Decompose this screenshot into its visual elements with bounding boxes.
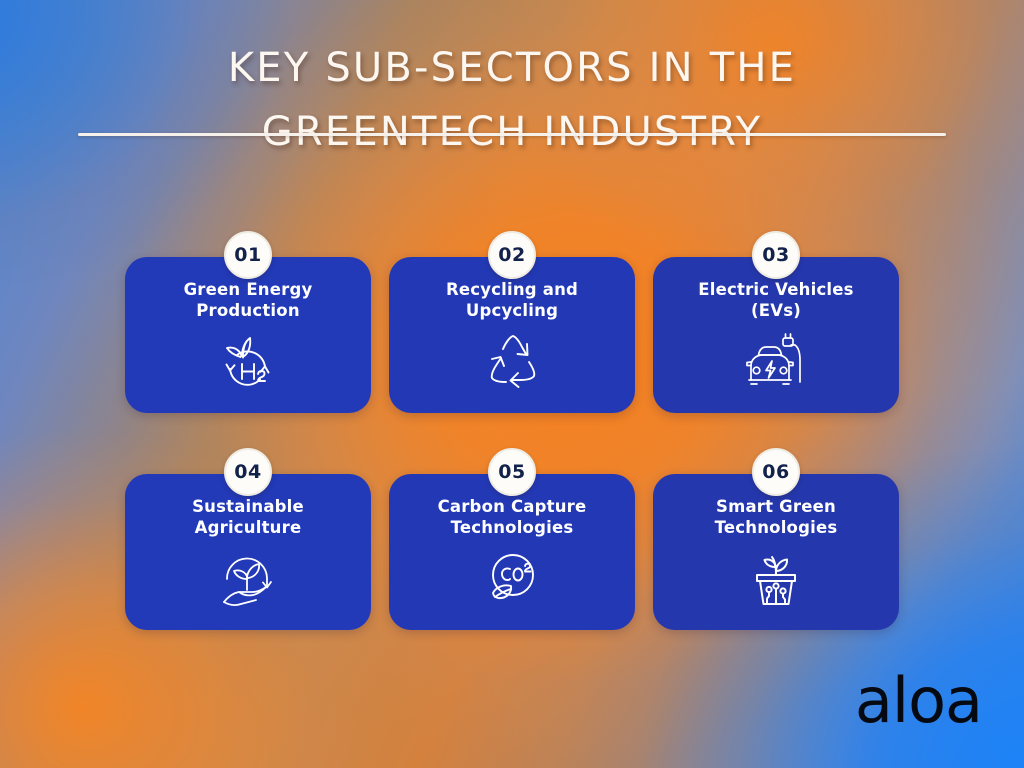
card-cell-02: 02 Recycling and Upcycling [389,231,635,413]
sub-sector-card-carbon-capture-technologies[interactable]: Carbon Capture Technologies [389,474,635,630]
sub-sector-card-recycling-and-upcycling[interactable]: Recycling and Upcycling [389,257,635,413]
card-title: Carbon Capture Technologies [428,496,597,538]
card-number-badge-05: 05 [488,448,536,496]
card-cell-03: 03 Electric Vehicles (EVs) [653,231,899,413]
hydrogen-leaf-cycle-icon [210,329,286,395]
card-cell-04: 04 Sustainable Agriculture [125,448,371,630]
card-number-badge-04: 04 [224,448,272,496]
electric-car-plug-icon [738,329,814,395]
smart-plant-pot-icon [738,546,814,612]
card-number-badge-06: 06 [752,448,800,496]
recycling-arrows-icon [474,329,550,395]
card-number-label: 01 [234,246,261,265]
card-title: Recycling and Upcycling [436,279,588,321]
hand-sprout-icon [210,546,286,612]
card-number-badge-02: 02 [488,231,536,279]
aloa-logo: aloa [855,670,982,732]
card-number-label: 05 [498,463,525,482]
card-number-badge-03: 03 [752,231,800,279]
card-number-label: 03 [762,246,789,265]
sub-sector-card-smart-green-technologies[interactable]: Smart Green Technologies [653,474,899,630]
card-number-label: 02 [498,246,525,265]
card-title: Smart Green Technologies [705,496,848,538]
card-title: Sustainable Agriculture [182,496,314,538]
title-divider [78,133,946,136]
sub-sector-card-electric-vehicles[interactable]: Electric Vehicles (EVs) [653,257,899,413]
page-title-line-1: KEY SUB-SECTORS IN THE [0,36,1024,100]
card-title: Green Energy Production [174,279,323,321]
card-cell-05: 05 Carbon Capture Technologies [389,448,635,630]
card-number-label: 06 [762,463,789,482]
sub-sector-card-sustainable-agriculture[interactable]: Sustainable Agriculture [125,474,371,630]
card-cell-01: 01 Green Energy Production [125,231,371,413]
card-number-label: 04 [234,463,261,482]
infographic-slide: KEY SUB-SECTORS IN THE GREENTECH INDUSTR… [0,0,1024,768]
sub-sector-card-grid: 01 Green Energy Production [125,231,899,630]
sub-sector-card-green-energy-production[interactable]: Green Energy Production [125,257,371,413]
slide-header: KEY SUB-SECTORS IN THE GREENTECH INDUSTR… [0,36,1024,164]
co2-leaf-circle-icon [474,546,550,612]
card-cell-06: 06 Smart Green Technologies [653,448,899,630]
card-number-badge-01: 01 [224,231,272,279]
card-title: Electric Vehicles (EVs) [688,279,863,321]
page-title-line-2: GREENTECH INDUSTRY [0,100,1024,164]
